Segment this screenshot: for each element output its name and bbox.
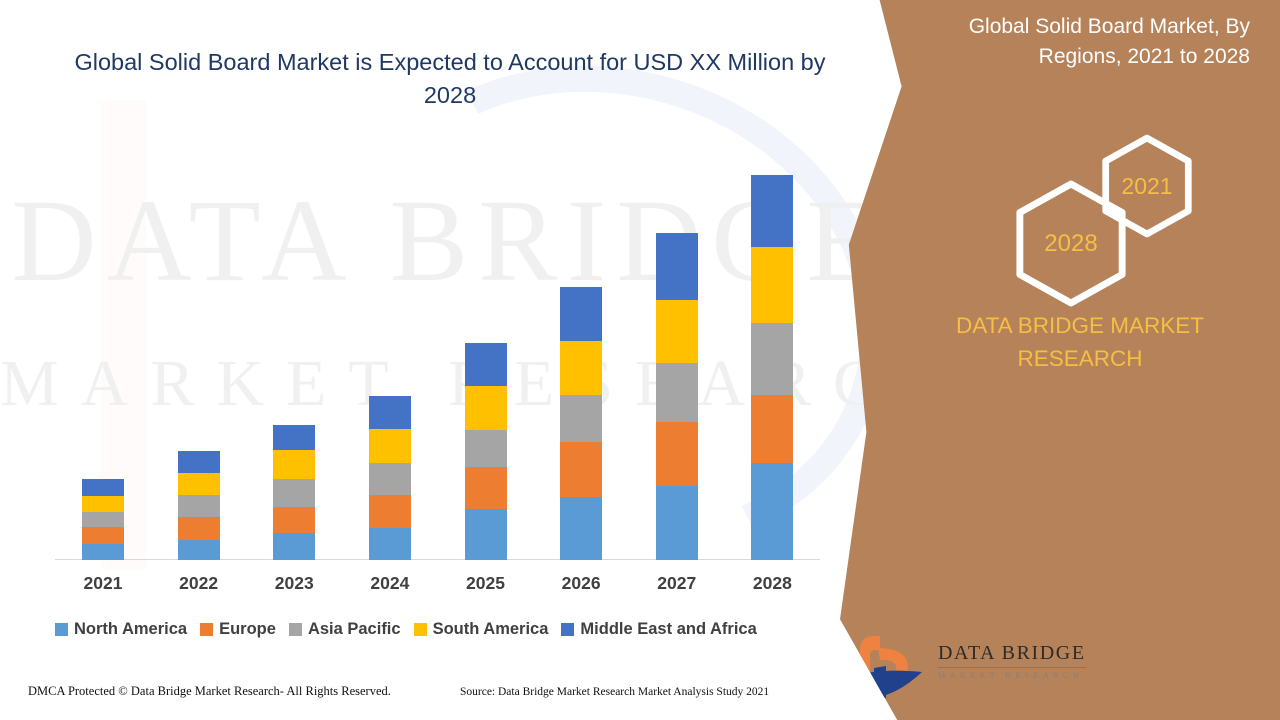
stacked-bar[interactable] (751, 175, 793, 560)
company-logo: DATA BRIDGE MARKET RESEARCH (850, 628, 1090, 704)
hexagon-badge-2021-label: 2021 (1121, 173, 1172, 200)
bar-segment (751, 175, 793, 248)
legend-label: Europe (219, 620, 276, 639)
bar-segment (465, 430, 507, 467)
bar-segment (560, 442, 602, 497)
bar-segment (273, 533, 315, 560)
bar-column-2022 (151, 150, 247, 560)
legend-item[interactable]: Asia Pacific (289, 620, 401, 639)
bar-segment (178, 517, 220, 540)
x-axis-label-2027: 2027 (629, 573, 725, 594)
bar-segment (273, 450, 315, 479)
bar-segment (369, 528, 411, 560)
legend-label: South America (433, 620, 549, 639)
bar-segment (751, 395, 793, 463)
x-axis-label-2021: 2021 (55, 573, 151, 594)
legend-swatch-icon (200, 623, 213, 636)
page-title: Global Solid Board Market is Expected to… (60, 46, 840, 113)
legend-swatch-icon (561, 623, 574, 636)
legend-label: Middle East and Africa (580, 620, 756, 639)
logo-title: DATA BRIDGE (938, 642, 1088, 665)
legend-swatch-icon (289, 623, 302, 636)
bar-segment (656, 486, 698, 560)
bar-segment (465, 386, 507, 430)
bar-segment (369, 463, 411, 496)
stacked-bar[interactable] (465, 343, 507, 560)
stacked-bar[interactable] (369, 396, 411, 560)
bar-column-2023 (246, 150, 342, 560)
stacked-bar[interactable] (656, 233, 698, 560)
chart-panel: DATA BRIDGE MARKET RESEARCH Global Solid… (0, 0, 900, 720)
bar-column-2021 (55, 150, 151, 560)
bar-segment (465, 509, 507, 560)
bar-column-2028 (724, 150, 820, 560)
hexagon-badge-2028-label: 2028 (1044, 230, 1097, 258)
legend-label: North America (74, 620, 187, 639)
bar-segment (273, 507, 315, 534)
bar-segment (369, 495, 411, 528)
legend-item[interactable]: North America (55, 620, 187, 639)
bar-column-2024 (342, 150, 438, 560)
brand-panel-title: Global Solid Board Market, By Regions, 2… (920, 12, 1250, 73)
logo-wordmark: DATA BRIDGE MARKET RESEARCH (938, 642, 1088, 680)
stacked-bar-chart (55, 150, 820, 560)
legend-swatch-icon (414, 623, 427, 636)
bar-column-2027 (629, 150, 725, 560)
bar-segment (82, 512, 124, 527)
x-axis-labels: 20212022202320242025202620272028 (55, 573, 820, 599)
stacked-bar[interactable] (178, 451, 220, 560)
brand-panel: Global Solid Board Market, By Regions, 2… (840, 0, 1280, 720)
bar-segment (465, 343, 507, 386)
x-axis-label-2023: 2023 (246, 573, 342, 594)
brand-name: DATA BRIDGE MARKET RESEARCH (915, 310, 1245, 375)
bar-segment (82, 496, 124, 511)
legend-item[interactable]: Europe (200, 620, 276, 639)
legend-label: Asia Pacific (308, 620, 401, 639)
bar-segment (178, 540, 220, 561)
bar-segment (178, 451, 220, 473)
dmca-notice: DMCA Protected © Data Bridge Market Rese… (28, 684, 391, 699)
bar-segment (178, 495, 220, 517)
bar-segment (82, 544, 124, 560)
stacked-bar[interactable] (560, 287, 602, 560)
legend-item[interactable]: Middle East and Africa (561, 620, 756, 639)
bar-segment (751, 323, 793, 395)
source-note: Source: Data Bridge Market Research Mark… (460, 686, 769, 698)
bar-segment (178, 473, 220, 496)
bar-segment (656, 233, 698, 300)
x-axis-label-2026: 2026 (533, 573, 629, 594)
stacked-bar[interactable] (273, 425, 315, 560)
bar-segment (656, 422, 698, 487)
hexagon-badges: 2021 2028 (995, 133, 1195, 293)
bar-segment (82, 527, 124, 543)
hexagon-badge-2028: 2028 (1012, 179, 1130, 309)
x-axis-label-2024: 2024 (342, 573, 438, 594)
bar-column-2025 (438, 150, 534, 560)
legend-item[interactable]: South America (414, 620, 549, 639)
bar-segment (560, 341, 602, 395)
x-axis-label-2022: 2022 (151, 573, 247, 594)
bar-segment (751, 463, 793, 560)
bar-segment (273, 425, 315, 451)
bar-segment (82, 479, 124, 496)
bar-segment (369, 429, 411, 463)
bar-segment (560, 287, 602, 340)
bar-column-2026 (533, 150, 629, 560)
logo-subtitle: MARKET RESEARCH (938, 671, 1088, 680)
bar-segment (369, 396, 411, 429)
bar-segment (560, 497, 602, 560)
bar-segment (751, 247, 793, 323)
x-axis-label-2025: 2025 (438, 573, 534, 594)
stacked-bar[interactable] (82, 479, 124, 560)
x-axis-label-2028: 2028 (724, 573, 820, 594)
bar-segment (656, 363, 698, 421)
bar-segment (273, 479, 315, 507)
bar-segment (560, 395, 602, 442)
bar-segment (656, 300, 698, 364)
chart-legend: North AmericaEuropeAsia PacificSouth Ame… (55, 616, 845, 642)
logo-divider (938, 667, 1086, 668)
legend-swatch-icon (55, 623, 68, 636)
bar-segment (465, 467, 507, 509)
